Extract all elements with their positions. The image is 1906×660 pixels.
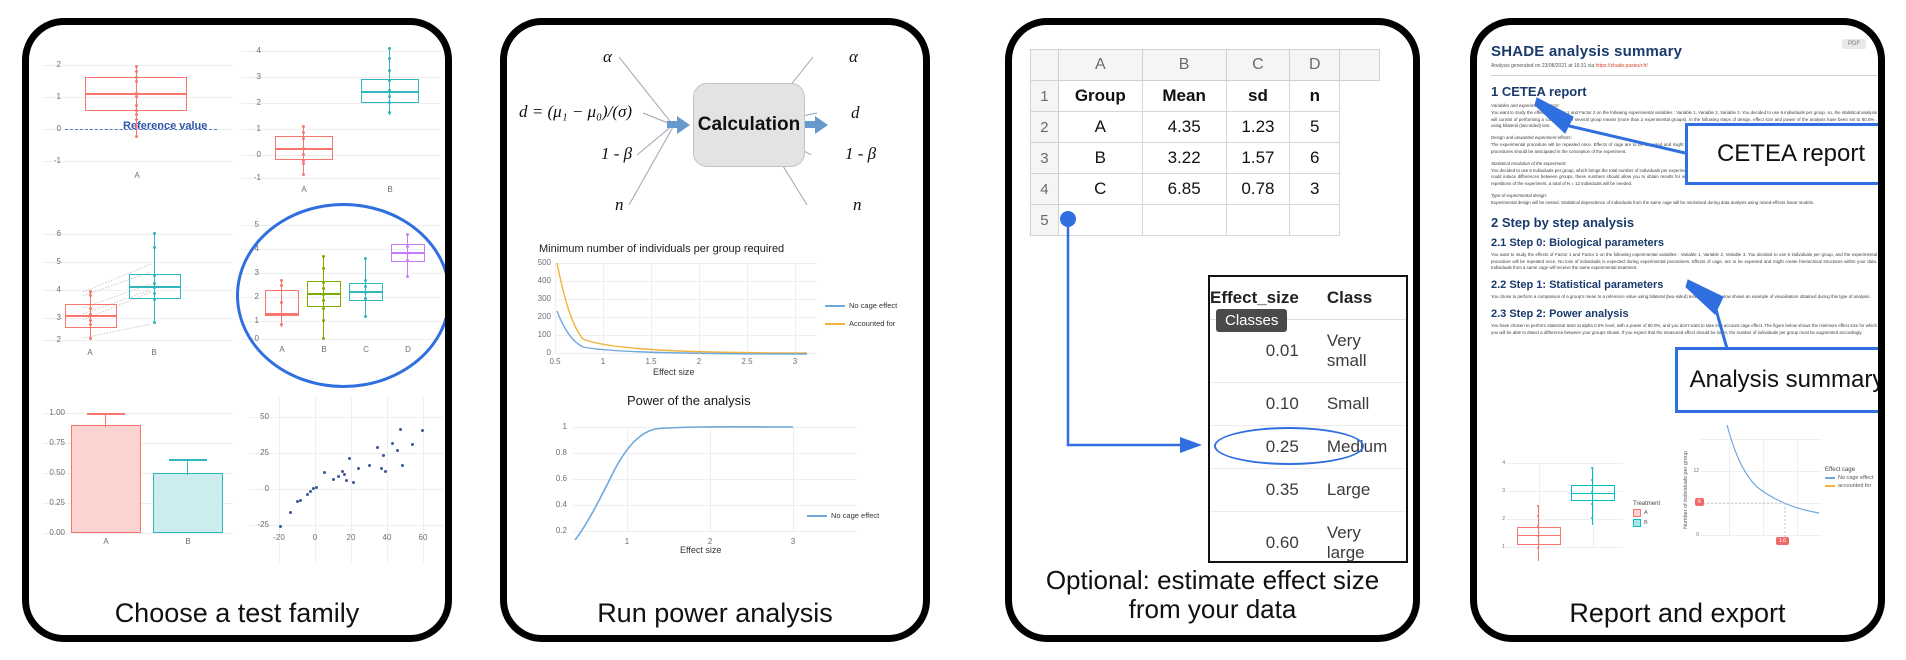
panel4-body: PDF SHADE analysis summary Analysis gene… [1477,25,1878,569]
callout-analysis-summary: Analysis summary [1675,347,1878,413]
classes-tooltip: Classes [1216,309,1287,332]
panel2-body: α d = (μ₁ − μ₀)/(σ) 1 - β n Calculation … [507,25,923,569]
panel3-body: A B C D 1 Group Mean sd n 2 A 4. [1012,25,1413,569]
panel-estimate-effect-size: A B C D 1 Group Mean sd n 2 A 4. [1005,18,1420,642]
input-power: 1 - β [601,144,632,164]
effect-size-value-3: 0.35 [1210,469,1309,512]
figure-root: 2 1 0 -1 Reference value [0,0,1906,660]
legend-swatch-accounted-for [825,323,845,325]
output-n: n [853,195,862,215]
output-power: 1 - β [845,144,876,164]
chart-power-curve: Power of the analysis 1 0.8 0.6 0.4 0.2 … [517,393,917,558]
highlight-circle [236,203,445,388]
panel-choose-test-family: 2 1 0 -1 Reference value [22,18,452,642]
chart-proportion-barplot: 1.00 0.75 0.50 0.25 0.00 A B [43,397,233,557]
input-alpha: α [603,47,612,67]
power-calculation-diagram: α d = (μ₁ − μ₀)/(σ) 1 - β n Calculation … [507,25,923,245]
legend-label-power-no-cage-effect: No cage effect [831,511,879,520]
chart-paired-boxplot: 6 5 4 3 2 [43,220,233,370]
table-row[interactable]: 0.60 Very large [1210,512,1406,570]
effect-size-class-4: Very large [1309,512,1406,570]
power-curve-line [517,393,917,558]
input-effect-size-formula: d = (μ₁ − μ₀)/(σ) [519,102,632,122]
chart-minimum-n: Minimum number of individuals per group … [517,243,917,383]
chart-one-sample-boxplot: 2 1 0 -1 Reference value [43,43,233,203]
panel-report-and-export: PDF SHADE analysis summary Analysis gene… [1470,18,1885,642]
panel-run-power-analysis: α d = (μ₁ − μ₀)/(σ) 1 - β n Calculation … [500,18,930,642]
effect-size-class-1: Small [1309,383,1406,426]
legend-label-accounted-for: Accounted for [849,319,895,328]
output-alpha: α [849,47,858,67]
legend-swatch-power-no-cage-effect [807,515,827,517]
calculation-node: Calculation [693,83,805,167]
effect-size-class-3: Large [1309,469,1406,512]
effect-size-value-1: 0.10 [1210,383,1309,426]
header-class: Class [1309,277,1406,320]
effect-size-value-4: 0.60 [1210,512,1309,570]
callout-cetea-report: CETEA report [1685,123,1878,185]
effect-size-class-0: Very small [1309,320,1406,383]
legend-swatch-no-cage-effect [825,305,845,307]
legend-label-no-cage-effect: No cage effect [849,301,897,310]
panel1-body: 2 1 0 -1 Reference value [29,25,445,569]
panel3-caption: Optional: estimate effect size from your… [1012,566,1413,625]
arrow-into-calculation-icon [677,116,690,134]
panel2-caption: Run power analysis [507,598,923,629]
highlight-ellipse-large-row [1214,427,1364,465]
panel4-caption: Report and export [1477,598,1878,629]
chart-two-group-boxplot: 4 3 2 1 0 -1 [241,33,441,203]
callout-arrows [1477,25,1878,569]
panel1-caption: Choose a test family [29,598,445,629]
input-n: n [615,195,624,215]
output-d: d [851,103,860,123]
chart-correlation-scatter: 50 25 0 -25 -20 0 20 40 60 [249,397,444,562]
arrow-out-of-calculation-icon [815,116,828,134]
minimum-n-curves [517,243,917,383]
table-row[interactable]: 0.35 Large [1210,469,1406,512]
table-row[interactable]: 0.10 Small [1210,383,1406,426]
